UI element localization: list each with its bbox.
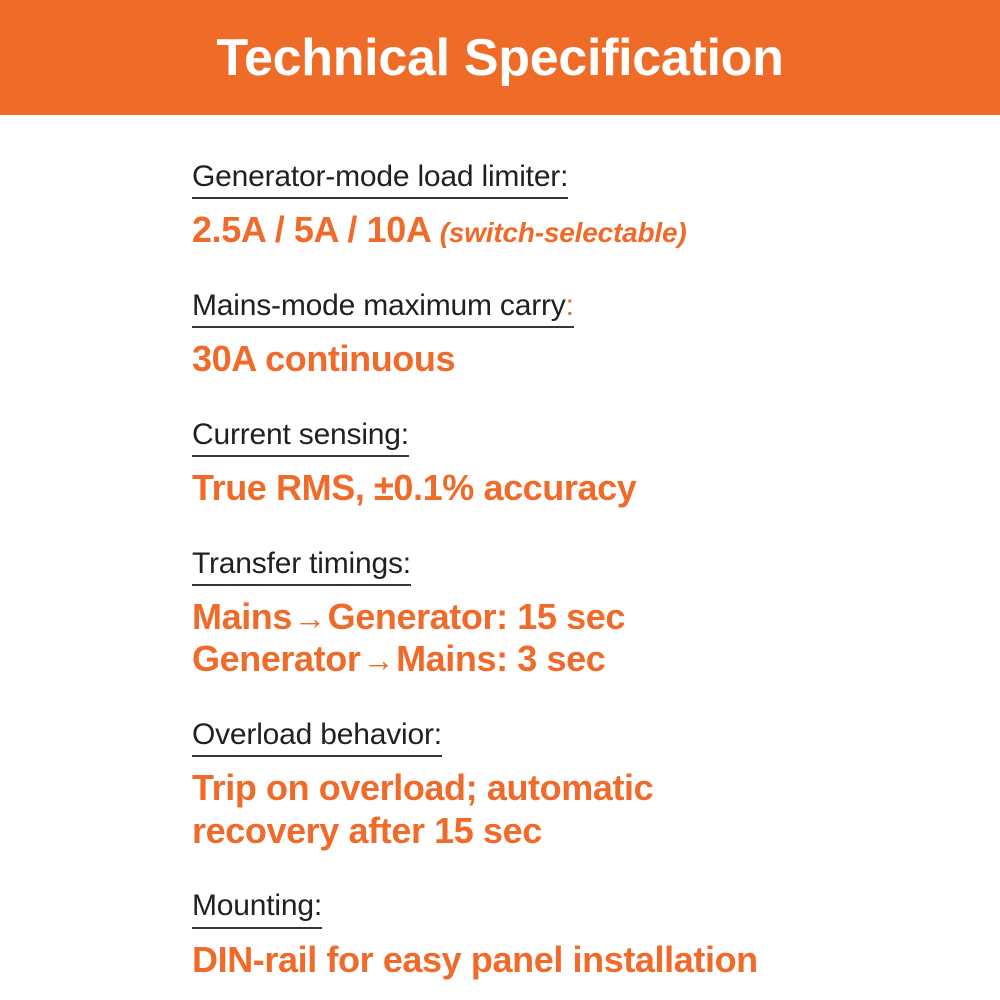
specification-list: Generator-mode load limiter: 2.5A / 5A /… <box>0 115 1000 981</box>
arrow-right-icon: → <box>292 600 328 636</box>
spec-values: Trip on overload; automatic recovery aft… <box>192 767 940 852</box>
transfer-from-label: Mains <box>192 596 292 637</box>
spec-value-line: Mains→Generator: 15 sec <box>192 596 940 638</box>
transfer-to-label: Mains: 3 sec <box>396 638 605 679</box>
spec-value-text: 2.5A / 5A / 10A <box>192 209 430 250</box>
page-title: Technical Specification <box>216 32 783 84</box>
spec-block-transfer-timings: Transfer timings: Mains→Generator: 15 se… <box>192 546 940 681</box>
spec-block-current-sensing: Current sensing: True RMS, ±0.1% accurac… <box>192 417 940 510</box>
spec-value-line: recovery after 15 sec <box>192 810 940 852</box>
spec-values: 30A continuous <box>192 338 940 380</box>
spec-label-colon: : <box>566 289 574 322</box>
spec-value-note: (switch-selectable) <box>440 217 687 248</box>
spec-label: Transfer timings: <box>192 546 411 586</box>
spec-value-line: DIN-rail for easy panel installation <box>192 939 940 981</box>
spec-values: True RMS, ±0.1% accuracy <box>192 467 940 509</box>
spec-label: Mains-mode maximum carry: <box>192 288 574 328</box>
spec-value-line: Trip on overload; automatic <box>192 767 940 809</box>
spec-label: Mounting: <box>192 888 322 928</box>
spec-block-mounting: Mounting: DIN-rail for easy panel instal… <box>192 888 940 981</box>
spec-block-overload-behavior: Overload behavior: Trip on overload; aut… <box>192 717 940 852</box>
spec-value-line: 2.5A / 5A / 10A (switch-selectable) <box>192 209 940 251</box>
spec-value-line: 30A continuous <box>192 338 940 380</box>
arrow-right-icon: → <box>360 642 396 678</box>
specification-page: Technical Specification Generator-mode l… <box>0 0 1000 1000</box>
spec-label-text: Mains-mode maximum carry <box>192 289 566 322</box>
transfer-to-label: Generator: 15 sec <box>328 596 625 637</box>
page-header: Technical Specification <box>0 0 1000 115</box>
spec-value-line: True RMS, ±0.1% accuracy <box>192 467 940 509</box>
spec-label: Current sensing: <box>192 417 409 457</box>
spec-block-mains-mode-maximum-carry: Mains-mode maximum carry: 30A continuous <box>192 288 940 381</box>
spec-values: DIN-rail for easy panel installation <box>192 939 940 981</box>
spec-block-generator-mode-load-limiter: Generator-mode load limiter: 2.5A / 5A /… <box>192 159 940 252</box>
spec-label: Generator-mode load limiter: <box>192 159 568 199</box>
spec-value-line: Generator→Mains: 3 sec <box>192 638 940 680</box>
spec-label: Overload behavior: <box>192 717 442 757</box>
spec-values: 2.5A / 5A / 10A (switch-selectable) <box>192 209 940 251</box>
transfer-from-label: Generator <box>192 638 360 679</box>
spec-values: Mains→Generator: 15 sec Generator→Mains:… <box>192 596 940 681</box>
